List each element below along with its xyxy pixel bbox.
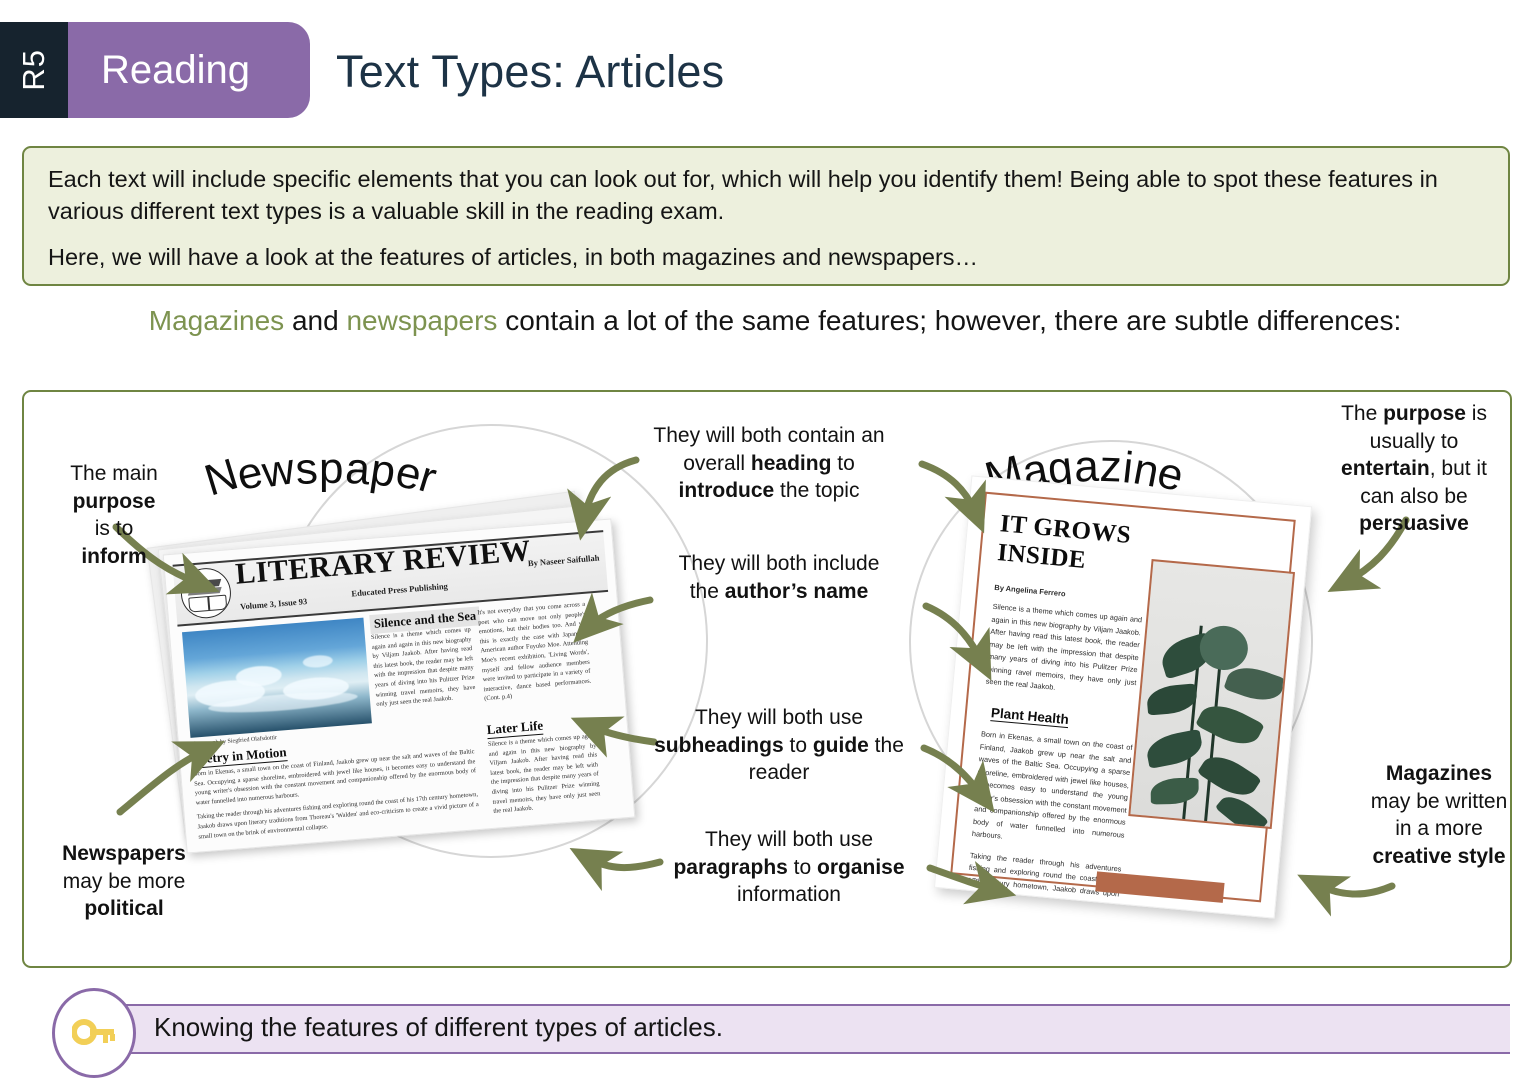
annotation-newspaper-purpose: The main purpose is to inform: [34, 460, 194, 570]
page-title: Text Types: Articles: [336, 46, 724, 98]
strand-tab: Reading: [68, 22, 310, 118]
lesson-code-box: R5: [0, 22, 68, 118]
intro-paragraph-1: Each text will include specific elements…: [48, 164, 1486, 228]
annotation-text: information: [737, 883, 841, 906]
slide-header: R5 Reading Text Types: Articles: [0, 0, 1536, 130]
magazine-photo-plant: [1128, 559, 1295, 829]
subtitle-word-magazines: Magazines: [149, 305, 284, 336]
annotation-line: The main: [70, 462, 158, 485]
annotation-bold: introduce: [679, 479, 775, 502]
annotation-text: to: [784, 734, 813, 757]
magazine-body-para-1: Born in Ekenas, a small town on the coas…: [971, 728, 1133, 854]
annotation-bold: guide: [813, 734, 869, 757]
annotation-bold: political: [84, 897, 163, 920]
annotation-text: may be written in a more: [1371, 790, 1508, 841]
subtitle-rest: contain a lot of the same features; howe…: [497, 305, 1401, 336]
newspaper-photo-ocean: [182, 618, 372, 738]
annotation-magazine-creative: Magazines may be written in a more creat…: [1364, 760, 1512, 870]
annotation-shared-subheadings: They will both use subheadings to guide …: [654, 704, 904, 787]
lesson-code-label: R5: [16, 49, 52, 91]
annotation-text: They will both use: [705, 828, 873, 851]
annotation-text: to: [831, 452, 854, 475]
annotation-bold: author’s name: [725, 580, 869, 603]
annotation-bold: purpose: [1383, 402, 1466, 425]
annotation-shared-author: They will both include the author’s name: [664, 550, 894, 605]
annotation-text: the topic: [774, 479, 859, 502]
comparison-subtitle: Magazines and newspapers contain a lot o…: [110, 302, 1440, 339]
strand-label: Reading: [68, 48, 250, 93]
annotation-bold: Newspapers: [62, 842, 186, 865]
subtitle-conjunction: and: [284, 305, 346, 336]
newspaper-sheet-front: LITERARY REVIEW Volume 3, Issue 93 Educa…: [163, 518, 636, 853]
annotation-bold: heading: [751, 452, 832, 475]
newspaper-column-1: Silence is a theme which comes up again …: [371, 625, 477, 710]
annotation-text: The: [1341, 402, 1383, 425]
annotation-bold: persuasive: [1359, 512, 1469, 535]
annotation-bold: inform: [81, 545, 146, 568]
newspaper-column-2: It's not everyday that you come across a…: [477, 600, 592, 704]
annotation-bold: organise: [817, 856, 905, 879]
annotation-bold: purpose: [73, 490, 156, 513]
annotation-shared-heading: They will both contain an overall headin…: [644, 422, 894, 505]
newspaper-section-label: Newspaper: [209, 444, 432, 494]
key-icon: [52, 988, 136, 1078]
comparison-panel: Newspaper Magazine LITERARY REVIEW Volum…: [22, 390, 1512, 968]
annotation-bold: Magazines: [1386, 762, 1492, 785]
magazine-page: IT GROWS INSIDE By Angelina Ferrero Sile…: [934, 475, 1312, 918]
annotation-newspaper-political: Newspapers may be more political: [34, 840, 214, 923]
annotation-text: to: [788, 856, 817, 879]
annotation-line: is to: [95, 517, 134, 540]
book-stack-icon: [179, 566, 233, 620]
slide-footer: Knowing the features of different types …: [22, 996, 1512, 1058]
magazine-mockup: IT GROWS INSIDE By Angelina Ferrero Sile…: [924, 470, 1344, 930]
newspaper-column-3: Silence is a theme which comes up again …: [488, 731, 602, 816]
intro-callout-box: Each text will include specific elements…: [22, 146, 1510, 286]
magazine-lede: Silence is a theme which comes up again …: [985, 601, 1142, 702]
annotation-line: may be more: [63, 870, 186, 893]
newspaper-mockup: LITERARY REVIEW Volume 3, Issue 93 Educa…: [142, 514, 642, 854]
annotation-bold: entertain: [1341, 457, 1430, 480]
annotation-bold: paragraphs: [673, 856, 787, 879]
newspaper-volume: Volume 3, Issue 93: [240, 596, 308, 611]
subtitle-word-newspapers: newspapers: [346, 305, 497, 336]
newspaper-body: Photograph by Siegfried Olafsdottir Sile…: [178, 596, 626, 848]
annotation-text: They will both use: [695, 706, 863, 729]
annotation-shared-paragraphs: They will both use paragraphs to organis…: [654, 826, 924, 909]
annotation-bold: creative style: [1372, 845, 1505, 868]
newspaper-publisher: Educated Press Publishing: [351, 581, 448, 599]
footer-objective-text: Knowing the features of different types …: [154, 1012, 723, 1043]
annotation-magazine-purpose: The purpose is usually to entertain, but…: [1324, 400, 1504, 538]
intro-paragraph-2: Here, we will have a look at the feature…: [48, 242, 1486, 274]
annotation-bold: subheadings: [654, 734, 784, 757]
